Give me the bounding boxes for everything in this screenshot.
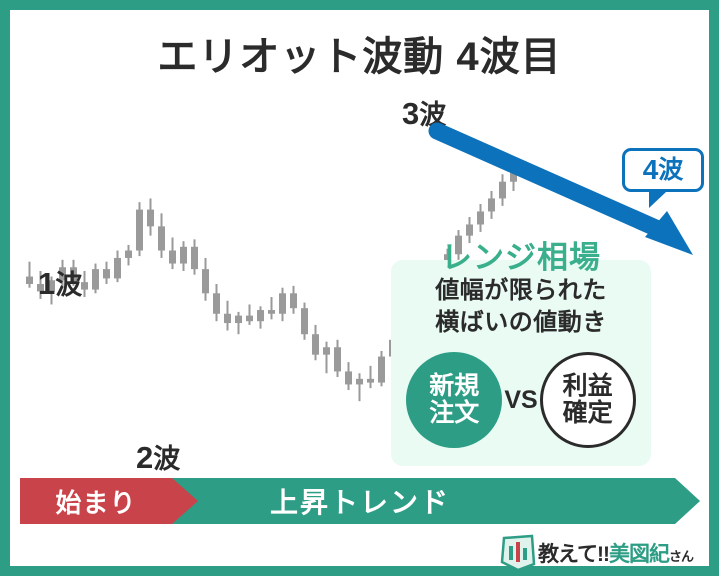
profit-taking-line-2: 確定 xyxy=(563,400,613,427)
vs-label: VS xyxy=(504,386,537,415)
logo-prefix: 教えて xyxy=(538,543,597,566)
wave-4-number: 4 xyxy=(643,156,659,184)
new-order-line-1: 新規 xyxy=(429,373,479,400)
profit-taking-circle: 利益 確定 xyxy=(540,352,636,448)
trend-bar: 上昇トレンド 始まり xyxy=(10,478,709,524)
new-order-line-2: 注文 xyxy=(429,400,479,427)
range-description-line-2: 横ばいの値動き xyxy=(391,302,651,337)
logo-bangs: !! xyxy=(597,543,609,566)
wave-4-label: 4波 xyxy=(625,151,701,189)
wave-3-label: 3波 xyxy=(402,98,446,129)
callout-tail-icon xyxy=(649,192,666,208)
logo-name: 美図紀 xyxy=(609,543,669,566)
wave-4-unit: 波 xyxy=(658,158,683,183)
wave-4-callout: 4波 xyxy=(622,148,704,192)
wave-2-label: 2波 xyxy=(136,442,180,473)
profit-taking-line-1: 利益 xyxy=(563,373,613,400)
wave-2-number: 2 xyxy=(136,440,153,475)
range-description-line-1: 値幅が限られた xyxy=(391,270,651,305)
wave-1-unit: 波 xyxy=(55,270,82,300)
wave-1-number: 1 xyxy=(38,266,55,301)
wave-3-unit: 波 xyxy=(419,100,446,130)
page-title: エリオット波動 4波目 xyxy=(10,24,709,82)
infographic-root: エリオット波動 4波目 1波 2波 3波 4波 レンジ相場 xyxy=(0,0,719,576)
brand-logo: 教えて!!美図紀さん xyxy=(500,532,698,572)
start-label: 始まり xyxy=(20,478,172,524)
logo-wordmark: 教えて!!美図紀さん xyxy=(538,538,693,568)
logo-suffix: さん xyxy=(669,549,693,564)
wave-2-unit: 波 xyxy=(153,444,180,474)
logo-candle-icon xyxy=(500,534,536,572)
wave-1-label: 1波 xyxy=(38,268,82,299)
new-order-circle: 新規 注文 xyxy=(406,352,502,448)
battle-row: 新規 注文 VS 利益 確定 xyxy=(391,346,651,454)
wave-3-number: 3 xyxy=(402,96,419,131)
range-market-box: レンジ相場 値幅が限られた 横ばいの値動き 新規 注文 VS 利益 確定 xyxy=(391,260,651,466)
